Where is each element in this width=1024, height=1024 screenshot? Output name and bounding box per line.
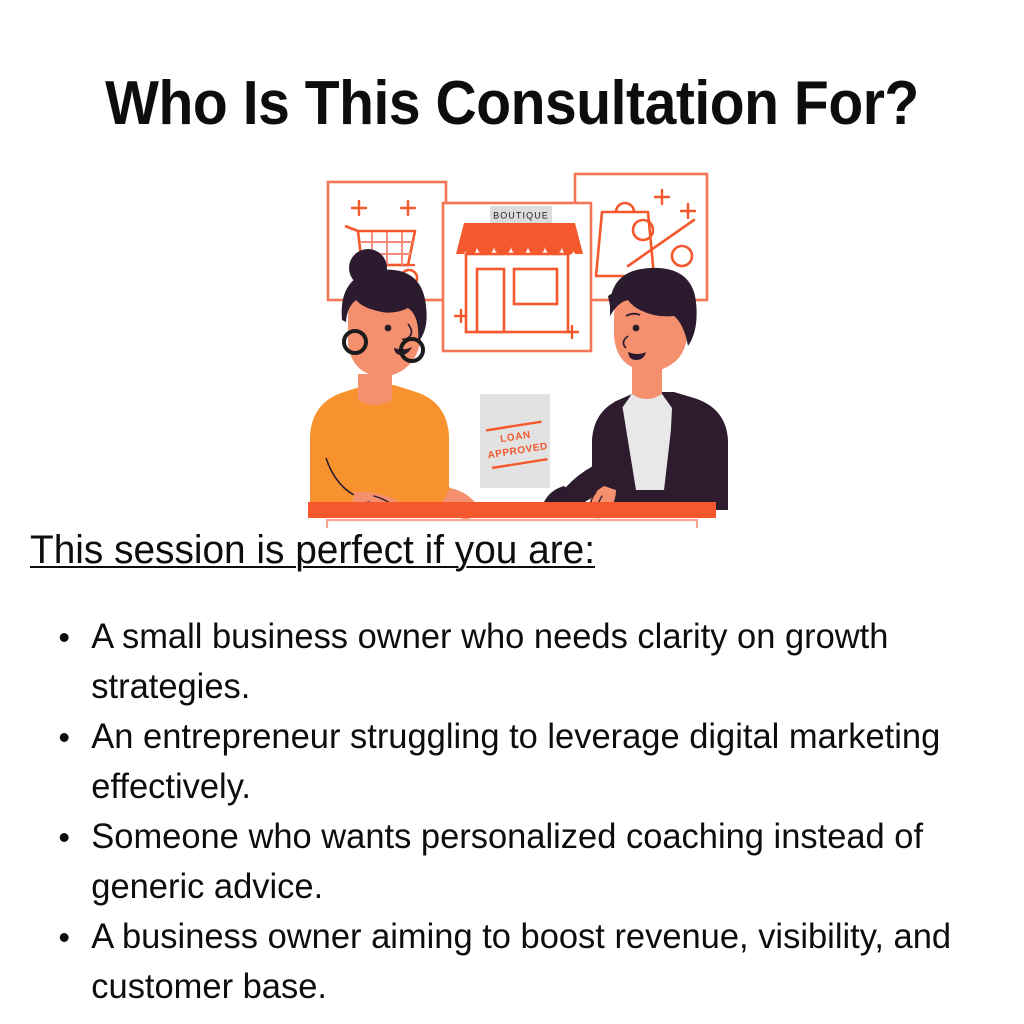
business-consultation-illustration: BOUTIQUE (296, 168, 728, 528)
list-item-text: Someone who wants personalized coaching … (91, 817, 923, 906)
list-item-text: A business owner aiming to boost revenue… (91, 917, 951, 1006)
subheading: This session is perfect if you are: (30, 524, 595, 576)
boutique-storefront-panel: BOUTIQUE (443, 203, 591, 351)
list-item: Someone who wants personalized coaching … (44, 812, 990, 912)
list-item: A business owner aiming to boost revenue… (44, 912, 990, 1012)
page-title: Who Is This Consultation For? (41, 66, 983, 142)
bullet-dot-icon (60, 933, 69, 942)
eye (633, 325, 640, 332)
hair-bun (349, 249, 387, 287)
bullet-dot-icon (60, 833, 69, 842)
list-item-text: A small business owner who needs clarity… (91, 617, 888, 706)
boutique-sign: BOUTIQUE (490, 206, 552, 223)
list-item: An entrepreneur struggling to leverage d… (44, 712, 990, 812)
list-item: A small business owner who needs clarity… (44, 612, 990, 712)
loan-approved-document: LOAN APPROVED (480, 394, 550, 488)
audience-bullet-list: A small business owner who needs clarity… (44, 612, 1004, 1012)
boutique-sign-label: BOUTIQUE (493, 211, 549, 221)
eye (385, 325, 392, 332)
bullet-dot-icon (60, 733, 69, 742)
awning-icon (456, 223, 583, 255)
list-item-text: An entrepreneur struggling to leverage d… (91, 717, 940, 806)
bullet-dot-icon (60, 633, 69, 642)
